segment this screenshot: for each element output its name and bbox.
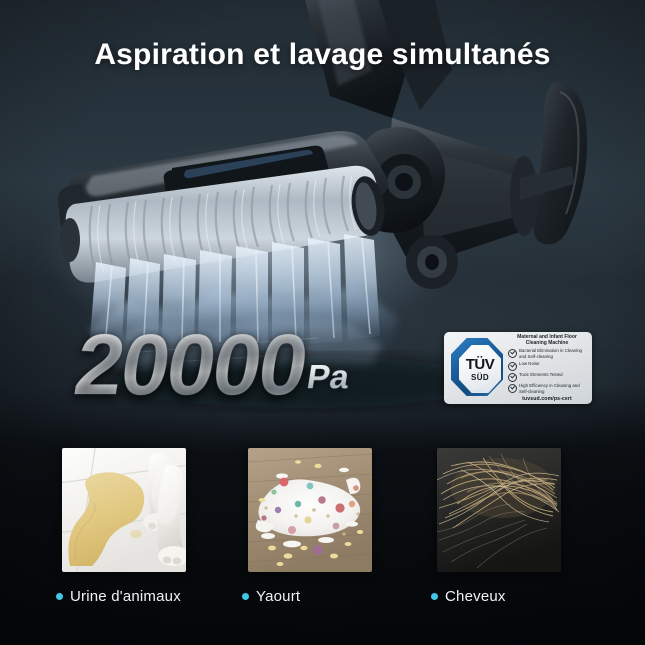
check-icon [508, 349, 517, 358]
list-item: Bacterial Elimination in Cleaning and Se… [508, 348, 586, 359]
list-item: High Efficiency in Cleaning and Self-cle… [508, 383, 586, 394]
page-title: Aspiration et lavage simultanés [0, 38, 645, 72]
tuv-logo-region: CHINA [451, 388, 503, 393]
product-marketing-poster: Aspiration et lavage simultanés 20000 Pa… [0, 0, 645, 645]
tuv-octagon-inner: TÜV SÜD [459, 345, 501, 393]
use-case-thumbnail-row: Urine d'animaux [0, 448, 645, 638]
check-icon [508, 384, 517, 393]
use-case-caption: Cheveux [431, 588, 506, 605]
tuv-logo-sub: SÜD [471, 374, 489, 382]
tuv-criteria-label: Toxic Elements Tested [519, 372, 563, 378]
use-case-item-pet-urine: Urine d'animaux [62, 448, 186, 572]
tuv-criteria-label: High Efficiency in Cleaning and Self-cle… [519, 383, 586, 394]
tuv-criteria-label: Low Noise [519, 361, 540, 367]
check-icon [508, 362, 517, 371]
use-case-caption: Urine d'animaux [56, 588, 181, 605]
use-case-caption: Yaourt [242, 588, 300, 605]
tuv-certification-badge: TÜV SÜD CHINA Maternal and Infant Floor … [444, 332, 592, 404]
tuv-badge-body: Maternal and Infant Floor Cleaning Machi… [506, 334, 588, 403]
use-case-label: Urine d'animaux [70, 588, 181, 605]
tuv-sud-logo-icon: TÜV SÜD CHINA [448, 336, 506, 400]
use-case-label: Cheveux [445, 588, 506, 605]
pet-urine-photo [62, 448, 186, 572]
list-item: Low Noise [508, 361, 586, 371]
tuv-criteria-list: Bacterial Elimination in Cleaning and Se… [508, 348, 586, 394]
yogurt-spill-photo [248, 448, 372, 572]
bullet-dot-icon [431, 593, 438, 600]
list-item: Toxic Elements Tested [508, 372, 586, 382]
tuv-criteria-label: Bacterial Elimination in Cleaning and Se… [519, 348, 586, 359]
check-icon [508, 373, 517, 382]
bullet-dot-icon [56, 593, 63, 600]
suction-power-callout: 20000 Pa [70, 326, 357, 405]
tuv-logo-word: TÜV [466, 357, 495, 372]
bullet-dot-icon [242, 593, 249, 600]
use-case-item-yogurt: Yaourt [248, 448, 372, 572]
hair-strands-photo [437, 448, 561, 572]
suction-power-unit: Pa [304, 358, 352, 397]
tuv-badge-title: Maternal and Infant Floor Cleaning Machi… [508, 334, 586, 347]
tuv-octagon-shape: TÜV SÜD CHINA [451, 338, 503, 396]
tuv-certificate-url: tuvsud.com/ps-cert [508, 396, 586, 402]
use-case-item-hair: Cheveux [437, 448, 561, 572]
suction-power-value: 20000 [70, 326, 312, 405]
use-case-label: Yaourt [256, 588, 300, 605]
